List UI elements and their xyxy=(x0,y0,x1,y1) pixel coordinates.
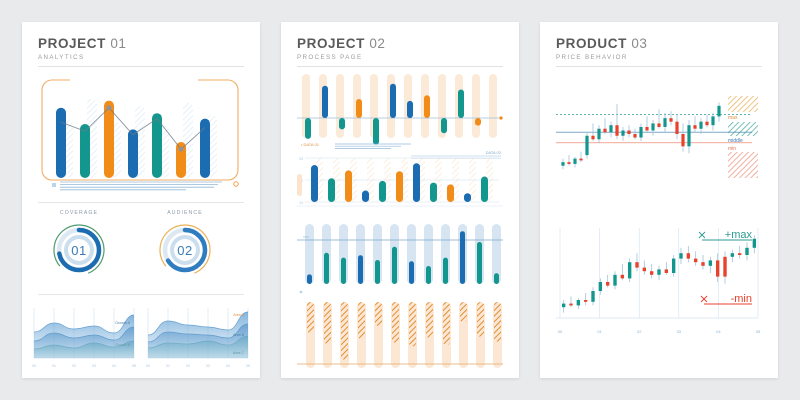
card-product-03: PRODUCT 03 PRICE BEHAVIOR maxmiddlemin 0… xyxy=(540,22,778,378)
svg-text:01: 01 xyxy=(597,329,602,334)
svg-text:05: 05 xyxy=(756,329,761,334)
chart-project01-area-right: 000102030405Area AArea BArea C xyxy=(144,304,252,370)
svg-text:Growth A: Growth A xyxy=(115,321,130,325)
svg-text:• DATA 01: • DATA 01 xyxy=(301,142,320,147)
svg-text:05: 05 xyxy=(246,364,250,368)
card-2-header: PROJECT 02 PROCESS PAGE xyxy=(297,36,503,61)
svg-text:min: min xyxy=(728,146,736,152)
svg-text:Area C: Area C xyxy=(233,351,245,355)
svg-text:01: 01 xyxy=(52,364,56,368)
svg-text:01: 01 xyxy=(71,243,86,258)
svg-text:02: 02 xyxy=(72,364,76,368)
card-project-01: PROJECT 01 ANALYTICS COVERAGE 01 AUDIENC… xyxy=(22,22,260,378)
svg-text:Growth B: Growth B xyxy=(115,343,131,347)
page-title: PROJECT 01 xyxy=(38,36,244,51)
svg-text:03: 03 xyxy=(206,364,210,368)
header-divider-2 xyxy=(297,66,503,67)
page-subtitle-3: PRICE BEHAVIOR xyxy=(556,54,762,61)
header-divider xyxy=(38,66,244,67)
svg-text:Area B: Area B xyxy=(233,333,245,337)
svg-text:max: max xyxy=(303,235,309,239)
svg-text:01: 01 xyxy=(166,364,170,368)
svg-text:00: 00 xyxy=(32,364,36,368)
svg-text:04: 04 xyxy=(716,329,721,334)
chart-project02-hatched xyxy=(291,298,509,376)
card-project-02: PROJECT 02 PROCESS PAGE • DATA 01 DATA 0… xyxy=(281,22,519,378)
page-title-3: PRODUCT 03 xyxy=(556,36,762,51)
chart-project02-grouped: DATA 02030201 xyxy=(291,148,509,214)
chart-product03-lower: 000102030405+max-min xyxy=(552,218,766,336)
gauge-audience: 02 xyxy=(155,220,215,282)
infographic-sheet: PROJECT 01 ANALYTICS COVERAGE 01 AUDIENC… xyxy=(0,0,800,400)
svg-text:DATA 02: DATA 02 xyxy=(486,150,502,155)
chart-project01-main-bars xyxy=(36,74,248,194)
page-subtitle: ANALYTICS xyxy=(38,54,244,61)
header-divider-3 xyxy=(556,66,762,67)
chart-project01-area-left: 000102030405Growth AGrowth B xyxy=(30,304,138,370)
chart-project02-thin-bars: max xyxy=(291,218,509,298)
svg-text:04: 04 xyxy=(226,364,230,368)
svg-text:02: 02 xyxy=(177,243,192,258)
svg-text:Area A: Area A xyxy=(233,313,244,317)
section-divider-1 xyxy=(38,202,244,203)
card-1-header: PROJECT 01 ANALYTICS xyxy=(38,36,244,61)
gauge-label-audience: AUDIENCE xyxy=(150,210,220,216)
svg-text:03: 03 xyxy=(92,364,96,368)
svg-text:02: 02 xyxy=(186,364,190,368)
chart-project02-diverging: • DATA 01 xyxy=(291,72,509,150)
svg-text:00: 00 xyxy=(558,329,563,334)
svg-text:03: 03 xyxy=(677,329,682,334)
svg-text:03: 03 xyxy=(299,157,303,161)
chart-product03-upper: maxmiddlemin xyxy=(552,82,766,192)
svg-text:max: max xyxy=(728,115,738,121)
svg-text:05: 05 xyxy=(132,364,136,368)
section-divider-2 xyxy=(38,294,244,295)
svg-text:+max: +max xyxy=(725,229,753,241)
svg-text:01: 01 xyxy=(299,201,303,205)
page-subtitle-2: PROCESS PAGE xyxy=(297,54,503,61)
gauge-coverage: 01 xyxy=(49,220,109,282)
svg-text:04: 04 xyxy=(112,364,116,368)
page-title-2: PROJECT 02 xyxy=(297,36,503,51)
svg-text:00: 00 xyxy=(146,364,150,368)
svg-text:02: 02 xyxy=(637,329,642,334)
card-3-header: PRODUCT 03 PRICE BEHAVIOR xyxy=(556,36,762,61)
svg-text:-min: -min xyxy=(731,293,752,305)
svg-text:middle: middle xyxy=(728,138,743,144)
gauge-label-coverage: COVERAGE xyxy=(44,210,114,216)
